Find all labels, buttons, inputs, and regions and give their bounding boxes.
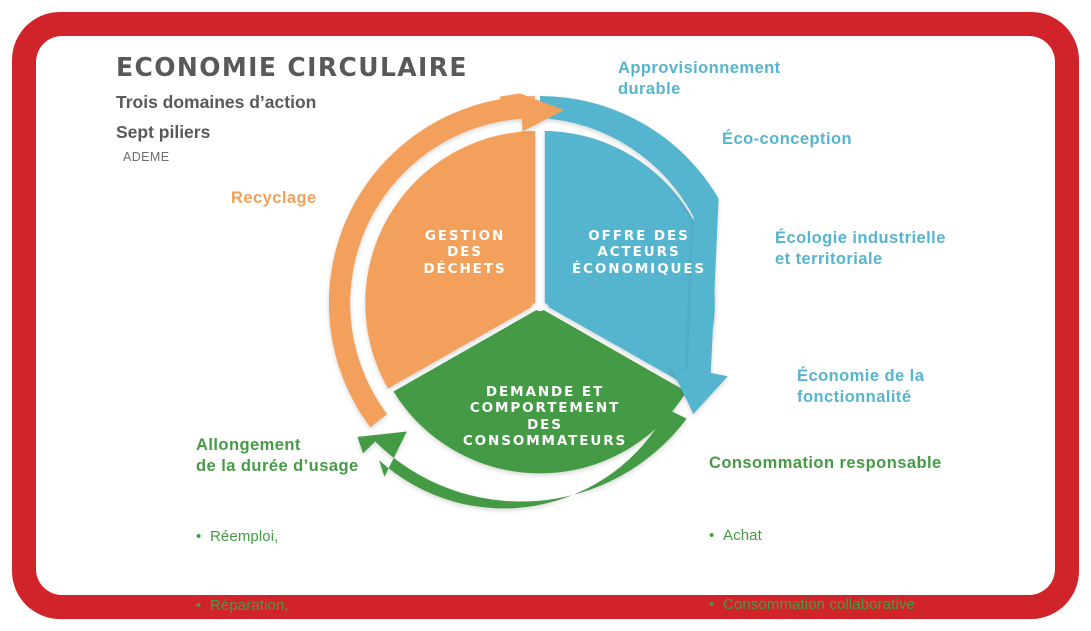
list-item: Réemploi, bbox=[196, 525, 293, 548]
list-item: Achat bbox=[709, 524, 915, 547]
wedge-label-offre-line1: OFFRE DES ACTEURS ÉCONOMIQUES bbox=[572, 228, 706, 277]
page-title: ECONOMIE CIRCULAIRE bbox=[116, 52, 468, 82]
subtitle-domaines: Trois domaines d’action bbox=[116, 92, 316, 113]
pillar-allongement-duree-usage-bullets: Réemploi, Réparation, Réutilisation bbox=[196, 478, 293, 631]
wedge-label-demande: DEMANDE ET COMPORTEMENT DES CONSOMMATEUR… bbox=[450, 384, 640, 450]
pillar-eco-conception[interactable]: Éco-conception bbox=[722, 129, 852, 150]
pillar-approvisionnement-durable[interactable]: Approvisionnement durable bbox=[618, 58, 781, 101]
pillar-allongement-duree-usage[interactable]: Allongement de la durée d’usage bbox=[196, 435, 359, 478]
source-ademe: ADEME bbox=[123, 150, 169, 164]
pillar-recyclage[interactable]: Recyclage bbox=[231, 188, 317, 209]
pillar-consommation-responsable[interactable]: Consommation responsable bbox=[709, 453, 942, 474]
wedge-label-gestion-line1: GESTION DES DÉCHETS bbox=[423, 228, 506, 277]
wedge-label-offre: OFFRE DES ACTEURS ÉCONOMIQUES bbox=[560, 228, 718, 277]
list-item: Réparation, bbox=[196, 594, 293, 617]
wedge-label-gestion: GESTION DES DÉCHETS bbox=[398, 228, 532, 277]
subtitle-piliers: Sept piliers bbox=[116, 122, 210, 143]
pillar-consommation-responsable-bullets: Achat Consommation collaborative Utilisa… bbox=[709, 477, 915, 631]
infographic-canvas: GESTION DES DÉCHETS OFFRE DES ACTEURS ÉC… bbox=[0, 0, 1091, 631]
pillar-ecologie-industrielle-territoriale[interactable]: Écologie industrielle et territoriale bbox=[775, 228, 946, 271]
list-item: Consommation collaborative bbox=[709, 593, 915, 616]
wedge-label-demande-line1: DEMANDE ET COMPORTEMENT DES CONSOMMATEUR… bbox=[463, 384, 627, 449]
pillar-economie-fonctionnalite[interactable]: Économie de la fonctionnalité bbox=[797, 366, 924, 409]
